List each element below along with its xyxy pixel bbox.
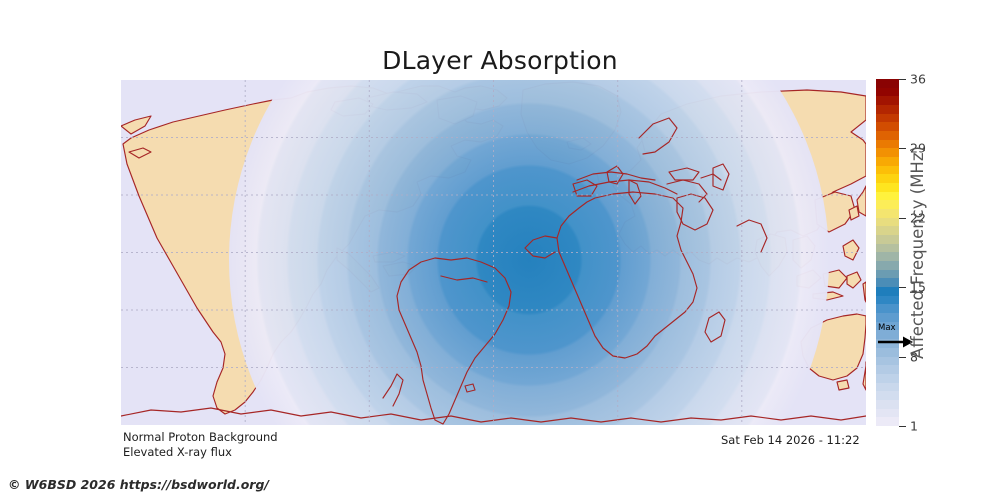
colorbar-band [876, 192, 899, 201]
colorbar-band [876, 218, 899, 227]
colorbar-band [876, 79, 899, 88]
colorbar-band [876, 105, 899, 114]
colorbar-band [876, 391, 899, 400]
colorbar-band [876, 148, 899, 157]
colorbar-band [876, 252, 899, 261]
colorbar-tick [899, 426, 906, 427]
colorbar-band [876, 131, 899, 140]
colorbar-band [876, 348, 899, 357]
colorbar-band [876, 140, 899, 149]
colorbar-band [876, 365, 899, 374]
absorption-map-panel[interactable] [121, 80, 866, 425]
colorbar-band [876, 374, 899, 383]
timestamp: Sat Feb 14 2026 - 11:22 [721, 433, 860, 447]
land-tasmania [837, 380, 849, 390]
colorbar-band [876, 313, 899, 322]
colorbar-band [876, 209, 899, 218]
colorbar-band [876, 339, 899, 348]
colorbar-band [876, 357, 899, 366]
colorbar-band [876, 261, 899, 270]
colorbar-band [876, 322, 899, 331]
colorbar-band [876, 174, 899, 183]
colorbar-band [876, 200, 899, 209]
colorbar-band [876, 235, 899, 244]
colorbar-band [876, 122, 899, 131]
colorbar-band [876, 88, 899, 97]
colorbar-axis-label-text: Affected Frequency (MHz) [908, 146, 927, 359]
note-proton-background: Normal Proton Background [123, 430, 278, 444]
colorbar[interactable]: 1815222936 [876, 79, 899, 426]
note-xray-flux: Elevated X-ray flux [123, 445, 232, 459]
colorbar-band [876, 304, 899, 313]
colorbar-band [876, 383, 899, 392]
colorbar-band [876, 226, 899, 235]
colorbar-band [876, 417, 899, 426]
colorbar-band [876, 270, 899, 279]
colorbar-band [876, 409, 899, 418]
world-map [121, 80, 866, 425]
colorbar-gradient [876, 79, 899, 426]
colorbar-band [876, 400, 899, 409]
footer-credit: © W6BSD 2026 https://bsdworld.org/ [8, 477, 269, 492]
colorbar-band [876, 183, 899, 192]
colorbar-band [876, 114, 899, 123]
colorbar-band [876, 166, 899, 175]
page-title: DLayer Absorption [0, 46, 1000, 75]
colorbar-band [876, 330, 899, 339]
colorbar-band [876, 296, 899, 305]
colorbar-band [876, 287, 899, 296]
colorbar-band [876, 244, 899, 253]
colorbar-band [876, 157, 899, 166]
colorbar-axis-label: Affected Frequency (MHz) [905, 79, 929, 426]
colorbar-band [876, 278, 899, 287]
colorbar-band [876, 96, 899, 105]
